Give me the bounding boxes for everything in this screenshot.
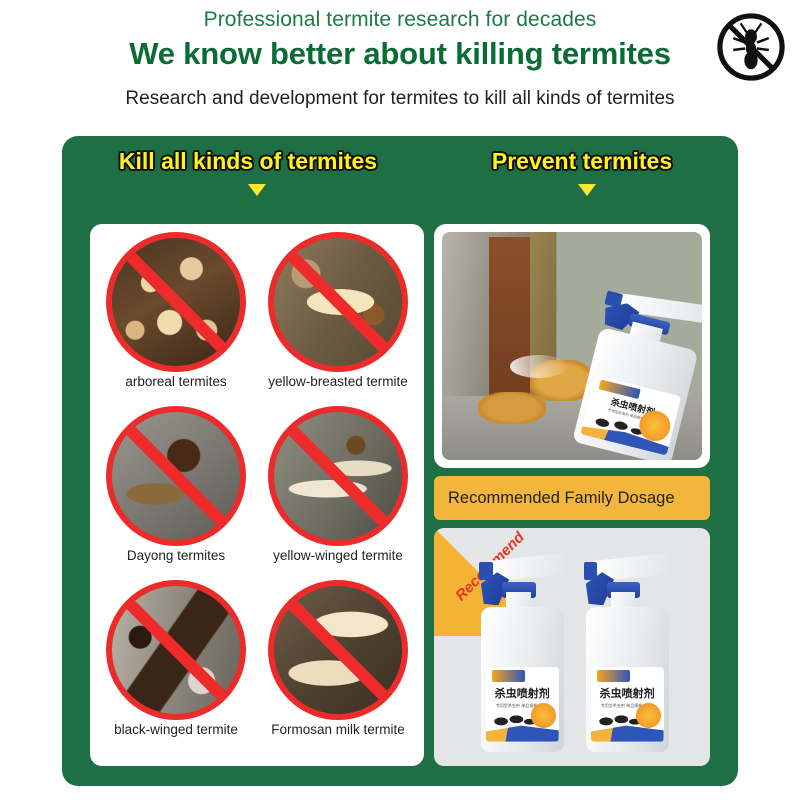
- termite-photo: [106, 406, 246, 546]
- header: Professional termite research for decade…: [0, 0, 800, 128]
- termite-photo: [268, 232, 408, 372]
- product-label-cn: 杀虫喷射剂: [591, 685, 664, 701]
- spray-plume: [510, 355, 567, 378]
- application-photo-card[interactable]: 杀虫喷射剂 专用型杀虫剂 单品规格 0.5%: [434, 224, 710, 468]
- section-title-prevent: Prevent termites: [426, 148, 738, 175]
- termite-caption: yellow-breasted termite: [246, 374, 430, 389]
- chevron-down-icon-left: [248, 184, 266, 196]
- damaged-wood-scene: 杀虫喷射剂 专用型杀虫剂 单品规格 0.5%: [442, 232, 702, 460]
- section-title-kill: Kill all kinds of termites: [70, 148, 426, 175]
- product-label-cn: 杀虫喷射剂: [486, 685, 559, 701]
- termite-caption: arboreal termites: [84, 374, 268, 389]
- dosage-banner: Recommended Family Dosage: [434, 476, 710, 520]
- product-label: 杀虫喷射剂 专用型杀虫剂 单品规格 0.5%: [580, 375, 681, 456]
- termite-caption: Dayong termites: [84, 548, 268, 563]
- product-label: 杀虫喷射剂 专用型杀虫剂 单品规格 0.5%: [591, 667, 664, 742]
- termite-grid: arboreal termites yellow-breasted termit…: [90, 224, 424, 766]
- termite-caption: black-winged termite: [84, 722, 268, 737]
- termite-item[interactable]: arboreal termites: [96, 228, 256, 400]
- termite-caption: yellow-winged termite: [246, 548, 430, 563]
- subtitle-text: Research and development for termites to…: [0, 88, 800, 110]
- termite-item[interactable]: Dayong termites: [96, 402, 256, 574]
- termite-photo: [268, 580, 408, 720]
- dosage-banner-label: Recommended Family Dosage: [448, 489, 675, 508]
- spray-bottle[interactable]: 杀虫喷射剂 专用型杀虫剂 单品规格 0.5%: [586, 557, 669, 752]
- termite-gallery-card: arboreal termites yellow-breasted termit…: [90, 224, 424, 766]
- spray-bottle[interactable]: 杀虫喷射剂 专用型杀虫剂 单品规格 0.5%: [481, 557, 564, 752]
- product-label: 杀虫喷射剂 专用型杀虫剂 单品规格 0.5%: [486, 667, 559, 742]
- main-green-panel: Kill all kinds of termites Prevent termi…: [62, 136, 738, 786]
- termite-item[interactable]: yellow-breasted termite: [258, 228, 418, 400]
- recommended-products-card[interactable]: Recommend 杀虫喷射剂 专用型杀虫剂 单品规格 0.5%: [434, 528, 710, 766]
- prevention-column: 杀虫喷射剂 专用型杀虫剂 单品规格 0.5% Recommended Famil…: [434, 224, 710, 766]
- termite-caption: Formosan milk termite: [246, 722, 430, 737]
- chevron-down-icon-right: [578, 184, 596, 196]
- termite-item[interactable]: Formosan milk termite: [258, 576, 418, 748]
- page-title: We know better about killing termites: [0, 36, 800, 72]
- termite-item[interactable]: yellow-winged termite: [258, 402, 418, 574]
- termite-photo: [268, 406, 408, 546]
- product-infographic: Professional termite research for decade…: [0, 0, 800, 800]
- termite-photo: [106, 580, 246, 720]
- termite-item[interactable]: black-winged termite: [96, 576, 256, 748]
- no-termite-icon: [714, 10, 788, 84]
- termite-photo: [106, 232, 246, 372]
- eyebrow-text: Professional termite research for decade…: [0, 8, 800, 32]
